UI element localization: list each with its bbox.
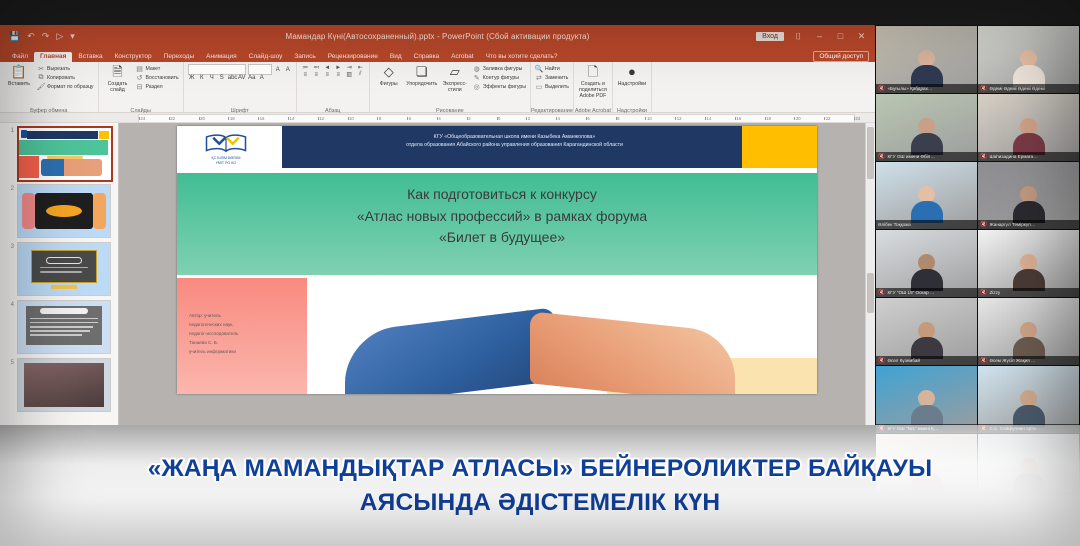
ribbon-group-body: 🗋Создать и поделиться Adobe PDF bbox=[578, 64, 608, 102]
ribbon-tab-3[interactable]: Конструктор bbox=[109, 52, 158, 63]
paste-icon: 📋 bbox=[11, 64, 28, 81]
participant-figure bbox=[911, 50, 943, 87]
font-row-2: ЖКЧSabcAVAaA bbox=[188, 75, 292, 81]
paragraph-button-6[interactable]: ≡ bbox=[301, 72, 310, 78]
slide-orange-accent bbox=[742, 126, 817, 168]
ribbon-display-options-icon[interactable]: ⌷ bbox=[792, 31, 805, 42]
thumb-text-line bbox=[30, 334, 82, 336]
font-format-button-0[interactable]: Ж bbox=[188, 75, 196, 81]
title-bar-right: Вход ⌷ – □ ✕ bbox=[756, 31, 875, 42]
participant-figure bbox=[1013, 50, 1045, 87]
ruler-tick-label: 2 bbox=[528, 116, 530, 121]
font-format-button-2[interactable]: Ч bbox=[208, 75, 216, 81]
ribbon-group-6: 🗋Создать и поделиться Adobe PDFAdobe Acr… bbox=[574, 62, 613, 114]
participant-figure bbox=[1013, 118, 1045, 155]
paste-button[interactable]: 📋Вставить bbox=[4, 64, 34, 88]
shape-outline-icon: ✎ bbox=[473, 74, 481, 82]
button-label: Раздел bbox=[146, 84, 163, 90]
ribbon-tab-6[interactable]: Слайд-шоу bbox=[243, 52, 289, 63]
addins-button[interactable]: ●Надстройки bbox=[617, 64, 647, 88]
caption-banner: «ЖАҢА МАМАНДЫҚТАР АТЛАСЫ» БЕЙНЕРОЛИКТЕР … bbox=[0, 425, 1080, 546]
school-logo: ҚС БІЛІМ БӨЛІМІҮМІТ РО КО bbox=[187, 129, 265, 167]
shape-effects-button[interactable]: ◎Эффекты фигуры bbox=[473, 83, 526, 91]
thumb-hands-image bbox=[41, 159, 102, 176]
select-icon: ▭ bbox=[535, 83, 543, 91]
work-area: 1 2 bbox=[0, 123, 875, 425]
ribbon-tab-9[interactable]: Вид bbox=[384, 52, 408, 63]
participant-name-bar: 🔇«Бұғылы» Қабдрах… bbox=[876, 84, 977, 93]
addins-icon: ● bbox=[623, 64, 640, 81]
quick-styles-button[interactable]: ▱Экспресс-стили bbox=[440, 64, 470, 94]
participant-name: Шаһизадина Ермаға… bbox=[989, 154, 1037, 159]
thumb-text-line bbox=[30, 318, 98, 320]
ribbon-group-4: ◇Фигуры❏Упорядочить▱Экспресс-стили◍Залив… bbox=[370, 62, 531, 114]
ruler-tick-label: 14 bbox=[289, 116, 294, 121]
button-label: Заменить bbox=[545, 75, 568, 81]
author-line: Танаева С. Б. bbox=[189, 339, 301, 348]
ruler-tick-label: 20 bbox=[796, 116, 801, 121]
ruler-tick-label: 22 bbox=[170, 116, 175, 121]
quick-access-toolbar[interactable]: 💾 ↶ ↷ ▷ ▾ bbox=[0, 31, 75, 42]
participant-name: КГУ "ОШ 15" Оскар … bbox=[887, 290, 934, 295]
ribbon-tab-0[interactable]: Файл bbox=[6, 52, 34, 63]
slide-title-line-2: «Атлас новых профессий» в рамках форума bbox=[267, 206, 737, 228]
slide-author-text[interactable]: Автор: учитель педагогических наук, педа… bbox=[189, 312, 301, 357]
slide-canvas-area[interactable]: ҚС БІЛІМ БӨЛІМІҮМІТ РО КО КГУ «Общеобраз… bbox=[119, 123, 875, 425]
paragraph-controls: ≔≕◄►⇥⇤≡≡≡≡▥⫽ bbox=[301, 64, 365, 78]
thumb-green-block bbox=[19, 140, 108, 155]
author-line: педагог-исследователь bbox=[189, 330, 301, 339]
ribbon[interactable]: 📋Вставить✂Вырезать⧉Копировать🖌Формат по … bbox=[0, 62, 875, 113]
logo-mark-icon bbox=[203, 131, 249, 155]
handshake-illustration bbox=[345, 316, 735, 394]
author-line: педагогических наук, bbox=[189, 321, 301, 330]
participant-figure bbox=[1013, 322, 1045, 359]
participant-figure bbox=[1013, 186, 1045, 223]
section-button[interactable]: ⊟Раздел bbox=[136, 83, 179, 91]
arrange-button[interactable]: ❏Упорядочить bbox=[407, 64, 437, 88]
slide-title-line-3: «Билет в будущее» bbox=[267, 227, 737, 249]
ruler-tick-label: 6 bbox=[409, 116, 411, 121]
ribbon-group-7: ●НадстройкиНадстройки bbox=[613, 62, 652, 114]
thumb-orange-block bbox=[99, 131, 109, 140]
participant-figure bbox=[911, 118, 943, 155]
ruler-tick-label: 22 bbox=[826, 116, 831, 121]
participant-tile-10[interactable]: 🔇КГУ ОШ "№1" имені Қ… bbox=[876, 366, 977, 433]
thumbnail-number: 2 bbox=[0, 184, 17, 192]
paragraph-button-5[interactable]: ⇤ bbox=[356, 64, 365, 71]
participant-tile-4[interactable]: Әлібек Тоққожа bbox=[876, 162, 977, 229]
ruler-band: 2422201816141210864202468101214161820222… bbox=[138, 114, 855, 123]
paragraph-button-4[interactable]: ⇥ bbox=[345, 64, 354, 71]
thumb-text-line bbox=[30, 322, 98, 324]
robot-hand bbox=[345, 307, 555, 394]
select-button[interactable]: ▭Выделить bbox=[535, 83, 569, 91]
button-label: Вставить bbox=[8, 82, 30, 88]
participant-name: Әсел Күзембай bbox=[887, 358, 919, 363]
thumbnail-slide-2[interactable] bbox=[17, 184, 111, 238]
quick-styles-icon: ▱ bbox=[446, 64, 463, 81]
replace-icon: ⇄ bbox=[535, 74, 543, 82]
ruler-tick-label: 14 bbox=[707, 116, 712, 121]
header-line-2: отдела образования Абайского района упра… bbox=[292, 141, 737, 149]
thumb-text-line bbox=[40, 271, 82, 273]
shape-outline-button[interactable]: ✎Контур фигуры bbox=[473, 74, 526, 82]
ruler-tick-label: 24 bbox=[856, 116, 861, 121]
ribbon-group-body: 📋Вставить✂Вырезать⧉Копировать🖌Формат по … bbox=[4, 64, 94, 102]
ribbon-mini-column: ▤Макет↺Восстановить⊟Раздел bbox=[136, 64, 179, 91]
share-area: Общий доступ bbox=[813, 51, 875, 62]
font-controls: AAЖКЧSabcAVAaA bbox=[188, 64, 292, 81]
participant-tile-11[interactable]: 🔇С.С. Сейфуллин орта… bbox=[978, 366, 1079, 433]
participant-name: Zizzy bbox=[989, 290, 1000, 295]
ribbon-tab-5[interactable]: Анимация bbox=[200, 52, 243, 63]
participant-tile-2[interactable]: 🔇КГУ ОШ имени Әбіл… bbox=[876, 94, 977, 161]
section-icon: ⊟ bbox=[136, 83, 144, 91]
participant-tile-9[interactable]: 🔇Әсем Жүсіп Жақия … bbox=[978, 298, 1079, 365]
start-presentation-icon[interactable]: ▷ bbox=[56, 31, 63, 42]
ribbon-group-3: ≔≕◄►⇥⇤≡≡≡≡▥⫽Абзац bbox=[297, 62, 370, 114]
button-label: Контур фигуры bbox=[483, 75, 519, 81]
microphone-muted-icon: 🔇 bbox=[878, 86, 885, 92]
participant-name: Әдемі Әдемі Әдемі Әдемі bbox=[989, 86, 1044, 91]
thumb-stand bbox=[51, 285, 77, 289]
participant-figure bbox=[911, 254, 943, 291]
button-label: Надстройки bbox=[618, 82, 646, 88]
ruler-tick-label: 16 bbox=[260, 116, 265, 121]
screen-root: 💾 ↶ ↷ ▷ ▾ Мамандар Күні(Автосохраненный)… bbox=[0, 0, 1080, 546]
ruler-tick-label: 4 bbox=[438, 116, 440, 121]
thumb-red-block bbox=[19, 156, 39, 179]
close-icon[interactable]: ✕ bbox=[855, 31, 868, 42]
participant-tile-7[interactable]: 🔇Zizzy bbox=[978, 230, 1079, 297]
microphone-muted-icon: 🔇 bbox=[878, 154, 885, 160]
title-bar: 💾 ↶ ↷ ▷ ▾ Мамандар Күні(Автосохраненный)… bbox=[0, 25, 875, 47]
thumbnail-slide-5[interactable] bbox=[17, 358, 111, 412]
participant-tile-0[interactable]: 🔇«Бұғылы» Қабдрах… bbox=[876, 26, 977, 93]
ribbon-group-body: 🔍Найти⇄Заменить▭Выделить bbox=[535, 64, 569, 102]
participant-name-bar: Әлібек Тоққожа bbox=[876, 220, 977, 229]
window-title: Мамандар Күні(Автосохраненный).pptx - Po… bbox=[0, 32, 875, 41]
format-painter-icon: 🖌 bbox=[37, 83, 45, 91]
find-icon: 🔍 bbox=[535, 65, 543, 73]
ribbon-mini-column: 🔍Найти⇄Заменить▭Выделить bbox=[535, 64, 569, 91]
scrollbar-thumb-secondary[interactable] bbox=[867, 273, 874, 313]
font-format-button-3[interactable]: S bbox=[218, 75, 226, 81]
participant-figure bbox=[1013, 390, 1045, 427]
paragraph-button-0[interactable]: ≔ bbox=[301, 64, 310, 71]
thumbnail-item[interactable]: 5 bbox=[0, 358, 118, 410]
ribbon-mini-column: ✂Вырезать⧉Копировать🖌Формат по образцу bbox=[37, 64, 94, 91]
thumb-left-controller bbox=[22, 193, 35, 228]
decrease-font-size-icon[interactable]: A bbox=[284, 67, 292, 73]
slide-editing-surface[interactable]: ҚС БІЛІМ БӨЛІМІҮМІТ РО КО КГУ «Общеобраз… bbox=[177, 126, 817, 394]
button-label: Копировать bbox=[47, 75, 75, 81]
slide-title-line-1: Как подготовиться к конкурсу bbox=[267, 184, 737, 206]
button-label: Выделить bbox=[545, 84, 569, 90]
ruler-tick-label: 20 bbox=[200, 116, 205, 121]
ribbon-group-2: AAЖКЧSabcAVAaAШрифт bbox=[184, 62, 297, 114]
slide-title-block[interactable]: Как подготовиться к конкурсу «Атлас новы… bbox=[267, 184, 737, 249]
shapes-button[interactable]: ◇Фигуры bbox=[374, 64, 404, 88]
author-line: учитель информатики bbox=[189, 348, 301, 357]
paragraph-button-7[interactable]: ≡ bbox=[312, 72, 321, 78]
font-format-button-5[interactable]: AV bbox=[238, 75, 246, 81]
layout-button[interactable]: ▤Макет bbox=[136, 65, 179, 73]
button-label: Макет bbox=[146, 66, 161, 72]
powerpoint-window: 💾 ↶ ↷ ▷ ▾ Мамандар Күні(Автосохраненный)… bbox=[0, 25, 875, 425]
scrollbar-thumb[interactable] bbox=[867, 127, 874, 179]
vertical-scrollbar[interactable] bbox=[865, 123, 875, 425]
ribbon-tab-4[interactable]: Переходы bbox=[158, 52, 201, 63]
font-format-button-7[interactable]: A bbox=[258, 75, 266, 81]
button-label: Вырезать bbox=[47, 66, 70, 72]
save-icon[interactable]: 💾 bbox=[9, 31, 20, 42]
ruler-tick-label: 10 bbox=[349, 116, 354, 121]
participant-name-bar: 🔇Жанаргүл Теміркүл… bbox=[978, 220, 1079, 229]
thumbnail-slide-1[interactable] bbox=[17, 126, 113, 182]
caption-line-1: «ЖАҢА МАМАНДЫҚТАР АТЛАСЫ» БЕЙНЕРОЛИКТЕР … bbox=[148, 455, 933, 483]
thumbnail-item[interactable]: 2 bbox=[0, 184, 118, 236]
find-button[interactable]: 🔍Найти bbox=[535, 65, 569, 73]
ribbon-tab-12[interactable]: Что вы хотите сделать? bbox=[480, 52, 564, 63]
paragraph-button-10[interactable]: ▥ bbox=[345, 71, 354, 78]
microphone-muted-icon: 🔇 bbox=[980, 222, 987, 228]
copy-icon: ⧉ bbox=[37, 74, 45, 82]
reset-button[interactable]: ↺Восстановить bbox=[136, 74, 179, 82]
new-slide-button[interactable]: 🗎Создать слайд bbox=[103, 64, 133, 94]
thumbnail-number: 5 bbox=[0, 358, 17, 366]
participant-name: «Бұғылы» Қабдрах… bbox=[887, 86, 932, 91]
microphone-muted-icon: 🔇 bbox=[878, 290, 885, 296]
microphone-muted-icon: 🔇 bbox=[980, 154, 987, 160]
ribbon-tab-10[interactable]: Справка bbox=[408, 52, 446, 63]
ribbon-group-5: 🔍Найти⇄Заменить▭ВыделитьРедактирование bbox=[531, 62, 574, 114]
thumbnail-number: 4 bbox=[0, 300, 17, 308]
participant-name-bar: 🔇КГУ "ОШ 15" Оскар … bbox=[876, 288, 977, 297]
sign-in-button[interactable]: Вход bbox=[756, 32, 784, 41]
logo-text: ҚС БІЛІМ БӨЛІМІҮМІТ РО КО bbox=[212, 156, 241, 165]
ruler-tick-label: 8 bbox=[617, 116, 619, 121]
ruler-tick-label: 16 bbox=[736, 116, 741, 121]
font-format-button-6[interactable]: Aa bbox=[248, 75, 256, 81]
paragraph-button-1[interactable]: ≕ bbox=[312, 64, 321, 71]
thumbnail-slide-4[interactable] bbox=[17, 300, 111, 354]
microphone-muted-icon: 🔇 bbox=[980, 86, 987, 92]
shape-effects-icon: ◎ bbox=[473, 83, 481, 91]
ribbon-tab-8[interactable]: Рецензирование bbox=[322, 52, 384, 63]
ribbon-group-0: 📋Вставить✂Вырезать⧉Копировать🖌Формат по … bbox=[0, 62, 99, 114]
increase-font-size-icon[interactable]: A bbox=[274, 67, 282, 73]
thumbnail-item[interactable]: 1 bbox=[0, 126, 118, 178]
thumb-caption-pill bbox=[40, 308, 88, 314]
font-name-input[interactable] bbox=[188, 64, 246, 75]
ruler-tick-label: 12 bbox=[319, 116, 324, 121]
participant-figure bbox=[911, 390, 943, 427]
ruler-tick-label: 6 bbox=[587, 116, 589, 121]
thumb-photo bbox=[24, 363, 105, 407]
participant-figure bbox=[911, 186, 943, 223]
ruler-tick-label: 24 bbox=[141, 116, 146, 121]
author-line: Автор: учитель bbox=[189, 312, 301, 321]
participant-tile-6[interactable]: 🔇КГУ "ОШ 15" Оскар … bbox=[876, 230, 977, 297]
format-painter-button[interactable]: 🖌Формат по образцу bbox=[37, 83, 94, 91]
button-label: Создать слайд bbox=[103, 82, 133, 94]
participant-name-bar: 🔇Zizzy bbox=[978, 288, 1079, 297]
shape-fill-icon: ◍ bbox=[473, 65, 481, 73]
thumb-header-band bbox=[27, 131, 98, 140]
paragraph-row-1: ≡≡≡≡▥⫽ bbox=[301, 71, 365, 78]
human-hand bbox=[530, 311, 735, 394]
thumb-right-controller bbox=[93, 193, 106, 228]
ribbon-group-1: 🗎Создать слайд▤Макет↺Восстановить⊟Раздел… bbox=[99, 62, 184, 114]
ribbon-group-body: ◇Фигуры❏Упорядочить▱Экспресс-стили◍Залив… bbox=[374, 64, 526, 102]
participant-name-bar: 🔇КГУ ОШ имени Әбіл… bbox=[876, 152, 977, 161]
shape-fill-button[interactable]: ◍Заливка фигуры bbox=[473, 65, 526, 73]
participant-name: Жанаргүл Теміркүл… bbox=[989, 222, 1035, 227]
reset-icon: ↺ bbox=[136, 74, 144, 82]
font-row-1: AA bbox=[188, 64, 292, 75]
adobe-pdf-button[interactable]: 🗋Создать и поделиться Adobe PDF bbox=[578, 64, 608, 100]
layout-icon: ▤ bbox=[136, 65, 144, 73]
participant-name-bar: 🔇Әсел Күзембай bbox=[876, 356, 977, 365]
participant-name: Әлібек Тоққожа bbox=[878, 222, 911, 227]
participant-name: КГУ ОШ имени Әбіл… bbox=[887, 154, 934, 159]
participant-tile-8[interactable]: 🔇Әсел Күзембай bbox=[876, 298, 977, 365]
thumbnail-item[interactable]: 4 bbox=[0, 300, 118, 352]
button-label: Эффекты фигуры bbox=[483, 84, 526, 90]
undo-icon[interactable]: ↶ bbox=[27, 31, 35, 42]
new-slide-icon: 🗎 bbox=[109, 64, 126, 81]
thumb-text-line bbox=[30, 326, 94, 328]
ribbon-tab-2[interactable]: Вставка bbox=[72, 52, 108, 63]
participant-figure bbox=[1013, 254, 1045, 291]
cut-button[interactable]: ✂Вырезать bbox=[37, 65, 94, 73]
paragraph-button-2[interactable]: ◄ bbox=[323, 65, 332, 71]
font-size-input[interactable] bbox=[248, 64, 272, 75]
ribbon-tab-7[interactable]: Запись bbox=[288, 52, 321, 63]
thumbnail-number: 3 bbox=[0, 242, 17, 250]
paragraph-button-3[interactable]: ► bbox=[334, 65, 343, 71]
ruler-tick-label: 12 bbox=[677, 116, 682, 121]
shapes-icon: ◇ bbox=[380, 64, 397, 81]
thumbnail-slide-3[interactable] bbox=[17, 242, 111, 296]
ribbon-tab-1[interactable]: Главная bbox=[34, 52, 72, 63]
ribbon-group-body: 🗎Создать слайд▤Макет↺Восстановить⊟Раздел bbox=[103, 64, 179, 102]
participant-name-bar: 🔇Шаһизадина Ермаға… bbox=[978, 152, 1079, 161]
paragraph-button-9[interactable]: ≡ bbox=[334, 72, 343, 78]
ruler-tick-label: 8 bbox=[379, 116, 381, 121]
participant-name: Әсем Жүсіп Жақия … bbox=[989, 358, 1035, 363]
horizontal-ruler: 2422201816141210864202468101214161820222… bbox=[0, 113, 875, 123]
adobe-pdf-icon: 🗋 bbox=[584, 64, 601, 81]
thumbnail-item[interactable]: 3 bbox=[0, 242, 118, 294]
customize-qat-icon[interactable]: ▾ bbox=[70, 31, 75, 42]
ruler-tick-label: 18 bbox=[766, 116, 771, 121]
microphone-muted-icon: 🔇 bbox=[980, 290, 987, 296]
button-label: Экспресс-стили bbox=[440, 82, 470, 94]
thumb-caption-pill bbox=[46, 257, 83, 265]
ribbon-group-body: ≔≕◄►⇥⇤≡≡≡≡▥⫽ bbox=[301, 64, 365, 102]
ruler-tick-label: 2 bbox=[468, 116, 470, 121]
participant-figure bbox=[911, 322, 943, 359]
microphone-muted-icon: 🔇 bbox=[980, 358, 987, 364]
participant-tile-3[interactable]: 🔇Шаһизадина Ермаға… bbox=[978, 94, 1079, 161]
button-label: Заливка фигуры bbox=[483, 66, 523, 72]
arrange-icon: ❏ bbox=[413, 64, 430, 81]
slide-thumbnail-panel[interactable]: 1 2 bbox=[0, 123, 119, 425]
button-label: Упорядочить bbox=[406, 82, 437, 88]
ruler-tick-label: 4 bbox=[558, 116, 560, 121]
ruler-tick-label: 10 bbox=[647, 116, 652, 121]
participant-tile-1[interactable]: 🔇Әдемі Әдемі Әдемі Әдемі bbox=[978, 26, 1079, 93]
font-format-button-4[interactable]: abc bbox=[228, 75, 236, 81]
thumbnail-number: 1 bbox=[0, 126, 17, 134]
font-format-button-1[interactable]: К bbox=[198, 75, 206, 81]
paragraph-row-0: ≔≕◄►⇥⇤ bbox=[301, 64, 365, 71]
ribbon-group-body: ●Надстройки bbox=[617, 64, 647, 102]
cut-icon: ✂ bbox=[37, 65, 45, 73]
ruler-tick-label: 0 bbox=[498, 116, 500, 121]
microphone-muted-icon: 🔇 bbox=[878, 358, 885, 364]
copy-button[interactable]: ⧉Копировать bbox=[37, 74, 94, 82]
slide-header-text: КГУ «Общеобразовательная школа имени Каз… bbox=[292, 133, 737, 149]
ribbon-mini-column: ◍Заливка фигуры✎Контур фигуры◎Эффекты фи… bbox=[473, 64, 526, 91]
maximize-icon[interactable]: □ bbox=[834, 31, 847, 41]
button-label: Формат по образцу bbox=[47, 84, 94, 90]
header-line-1: КГУ «Общеобразовательная школа имени Каз… bbox=[292, 133, 737, 141]
participant-name-bar: 🔇Әсем Жүсіп Жақия … bbox=[978, 356, 1079, 365]
ribbon-tab-11[interactable]: Acrobat bbox=[445, 52, 479, 63]
paragraph-button-8[interactable]: ≡ bbox=[323, 72, 332, 78]
minimize-icon[interactable]: – bbox=[813, 31, 826, 41]
button-label: Восстановить bbox=[146, 75, 179, 81]
participant-tile-5[interactable]: 🔇Жанаргүл Теміркүл… bbox=[978, 162, 1079, 229]
share-button[interactable]: Общий доступ bbox=[813, 51, 869, 62]
participant-grid[interactable]: 🔇«Бұғылы» Қабдрах…🔇Әдемі Әдемі Әдемі Әде… bbox=[875, 25, 1080, 425]
replace-button[interactable]: ⇄Заменить bbox=[535, 74, 569, 82]
button-label: Найти bbox=[545, 66, 560, 72]
button-label: Создать и поделиться Adobe PDF bbox=[578, 82, 608, 100]
button-label: Фигуры bbox=[380, 82, 398, 88]
redo-icon[interactable]: ↷ bbox=[42, 31, 50, 42]
caption-line-2: АЯСЫНДА ӘДІСТЕМЕЛІК КҮН bbox=[360, 489, 720, 517]
ribbon-tab-bar[interactable]: ФайлГлавнаяВставкаКонструкторПереходыАни… bbox=[0, 47, 875, 62]
ruler-tick-label: 18 bbox=[230, 116, 235, 121]
paragraph-button-11[interactable]: ⫽ bbox=[356, 71, 365, 78]
thumb-text-line bbox=[30, 330, 90, 332]
ribbon-group-body: AAЖКЧSabcAVAaA bbox=[188, 64, 292, 102]
participant-name-bar: 🔇Әдемі Әдемі Әдемі Әдемі bbox=[978, 84, 1079, 93]
